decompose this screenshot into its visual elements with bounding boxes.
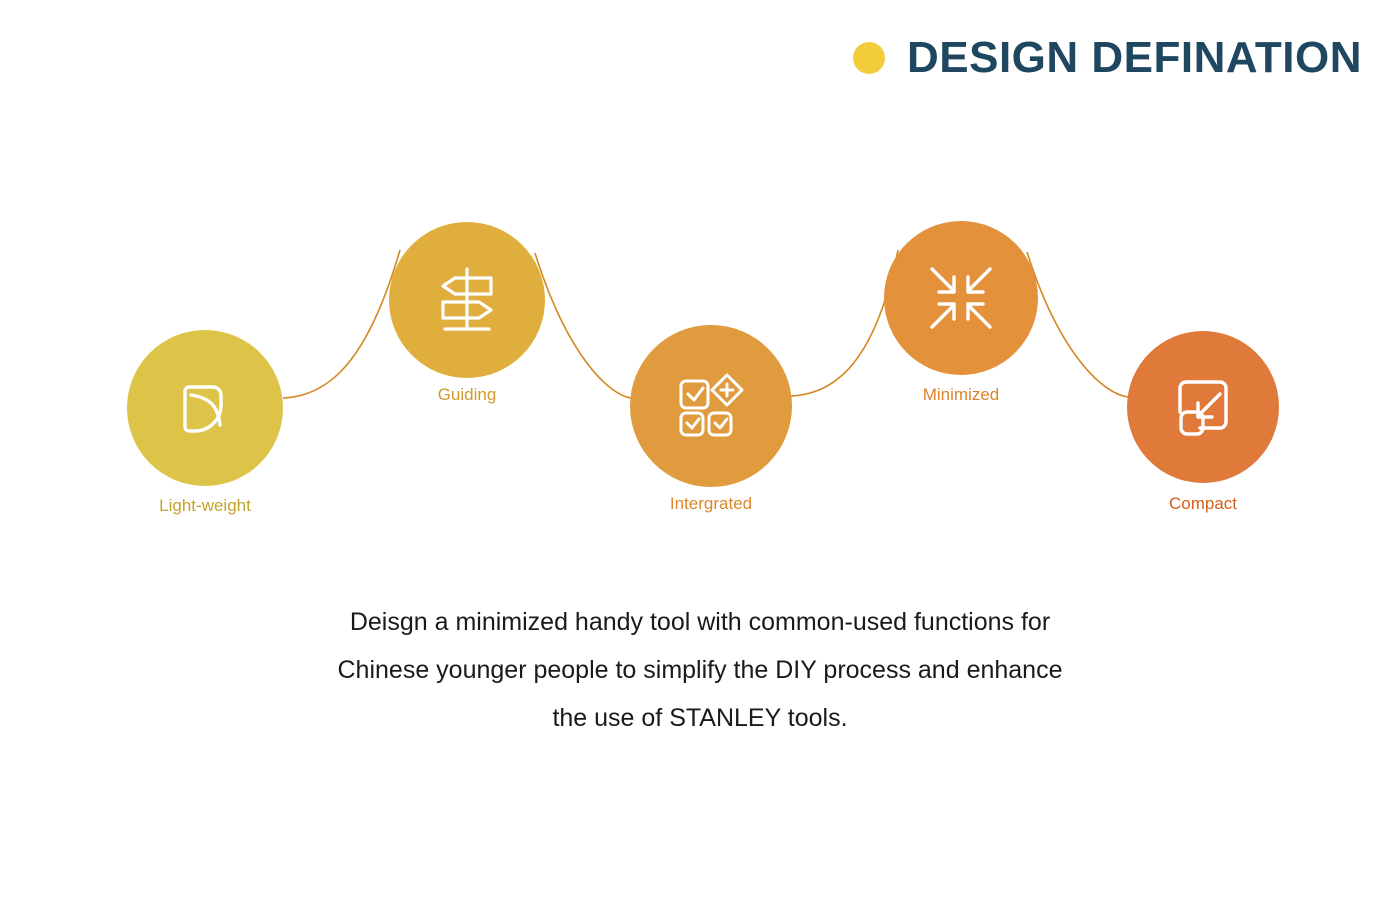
design-attribute-flow: Light-weight Guiding bbox=[0, 0, 1400, 560]
signpost-icon bbox=[429, 262, 505, 338]
flow-node-intergrated[interactable] bbox=[630, 325, 792, 487]
leaf-icon bbox=[174, 377, 236, 439]
flow-node-label-compact: Compact bbox=[1169, 494, 1237, 514]
design-statement: Deisgn a minimized handy tool with commo… bbox=[0, 598, 1400, 742]
design-statement-line-2: Chinese younger people to simplify the D… bbox=[0, 646, 1400, 694]
flow-node-label-light-weight: Light-weight bbox=[159, 496, 251, 516]
checkbox-grid-icon bbox=[676, 373, 746, 439]
shrink-box-icon bbox=[1170, 374, 1236, 440]
flow-node-label-minimized: Minimized bbox=[923, 385, 1000, 405]
design-statement-line-3: the use of STANLEY tools. bbox=[0, 694, 1400, 742]
flow-node-compact[interactable] bbox=[1127, 331, 1279, 483]
flow-node-guiding[interactable] bbox=[389, 222, 545, 378]
flow-node-light-weight[interactable] bbox=[127, 330, 283, 486]
flow-node-label-intergrated: Intergrated bbox=[670, 494, 752, 514]
flow-node-minimized[interactable] bbox=[884, 221, 1038, 375]
compress-arrows-icon bbox=[926, 263, 996, 333]
design-statement-line-1: Deisgn a minimized handy tool with commo… bbox=[0, 598, 1400, 646]
flow-node-label-guiding: Guiding bbox=[438, 385, 497, 405]
